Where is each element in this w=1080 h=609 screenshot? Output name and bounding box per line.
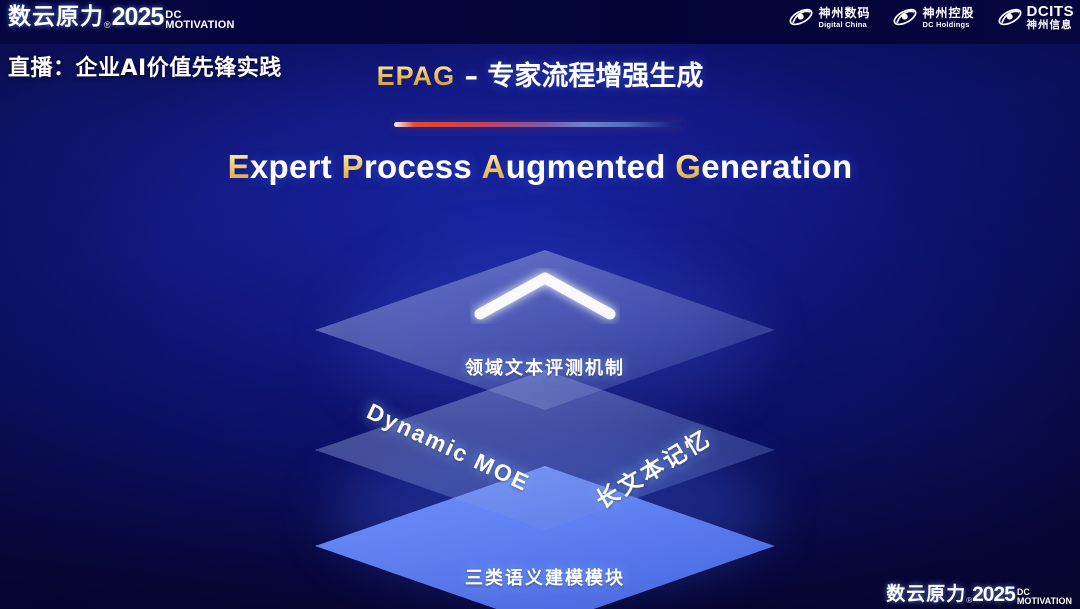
partner-logo-text: 神州控股 DC Holdings <box>922 7 974 29</box>
footer-logo: 数云原力®2025DCMOTIVATION <box>886 584 1072 605</box>
diagram-layer-top-label: 领域文本评测机制 <box>315 354 775 380</box>
partner-name-cn: 神州数码 <box>818 7 870 19</box>
event-logo-dc-line2: MOTIVATION <box>165 21 234 30</box>
footer-logo-year: 2025 <box>972 584 1015 605</box>
event-logo-dc-motivation: DCMOTIVATION <box>165 11 234 30</box>
heading-separator: – <box>455 61 487 92</box>
partner-name-en: Digital China <box>818 21 870 29</box>
subheading-cap-4: G <box>675 148 701 185</box>
layered-architecture-diagram: 三类语义建模模块 Dynamic MOE 长文本记忆 领域文本评测机制 <box>300 228 790 573</box>
partner-name-en: DC Holdings <box>922 21 974 29</box>
partner-logo-text: 神州数码 Digital China <box>818 7 870 29</box>
chevron-up-icon <box>470 268 620 324</box>
diagram-layer-bottom-label: 三类语义建模模块 <box>315 564 775 590</box>
footer-logo-dc-line1: DC <box>1017 588 1072 596</box>
slide-canvas: 数云原力®2025DCMOTIVATION 直播：企业AI价值先锋实践 神州数码… <box>0 0 1080 609</box>
swirl-logo-icon <box>997 5 1023 29</box>
gradient-divider <box>394 122 684 127</box>
swirl-logo-icon <box>788 5 814 29</box>
event-logo-year: 2025 <box>112 4 164 30</box>
partner-logo-text: DCITS 神州信息 <box>1027 4 1075 31</box>
swirl-logo-icon <box>892 5 918 29</box>
event-logo: 数云原力®2025DCMOTIVATION <box>8 2 235 30</box>
footer-logo-cn: 数云原力 <box>886 584 966 605</box>
footer-logo-dc-motivation: DCMOTIVATION <box>1017 588 1072 605</box>
partner-logo-digital-china: 神州数码 Digital China <box>788 5 870 29</box>
livestream-title: 直播：企业AI价值先锋实践 <box>8 50 282 82</box>
partner-name-en: DCITS <box>1027 4 1075 19</box>
subheading-rest-1: xpert <box>250 148 332 185</box>
subheading-rest-2: rocess <box>364 148 472 185</box>
partner-name-cn: 神州信息 <box>1027 20 1075 31</box>
footer-logo-dc-line2: MOTIVATION <box>1017 597 1072 605</box>
slide-subheading: Expert Process Augmented Generation <box>0 148 1080 186</box>
subheading-cap-2: P <box>342 148 364 185</box>
partner-logo-group: 神州数码 Digital China 神州控股 DC Holdings <box>788 4 1074 31</box>
event-logo-registered-mark: ® <box>104 20 111 30</box>
subheading-cap-1: E <box>228 148 250 185</box>
partner-logo-dc-holdings: 神州控股 DC Holdings <box>892 5 974 29</box>
heading-acronym: EPAG <box>377 61 456 91</box>
partner-logo-dcits: DCITS 神州信息 <box>997 4 1075 31</box>
subheading-cap-3: A <box>482 148 506 185</box>
event-logo-cn: 数云原力 <box>8 4 104 30</box>
subheading-rest-3: ugmented <box>506 148 666 185</box>
heading-chinese: 专家流程增强生成 <box>487 61 703 92</box>
partner-name-cn: 神州控股 <box>922 7 974 19</box>
subheading-rest-4: eneration <box>701 148 852 185</box>
